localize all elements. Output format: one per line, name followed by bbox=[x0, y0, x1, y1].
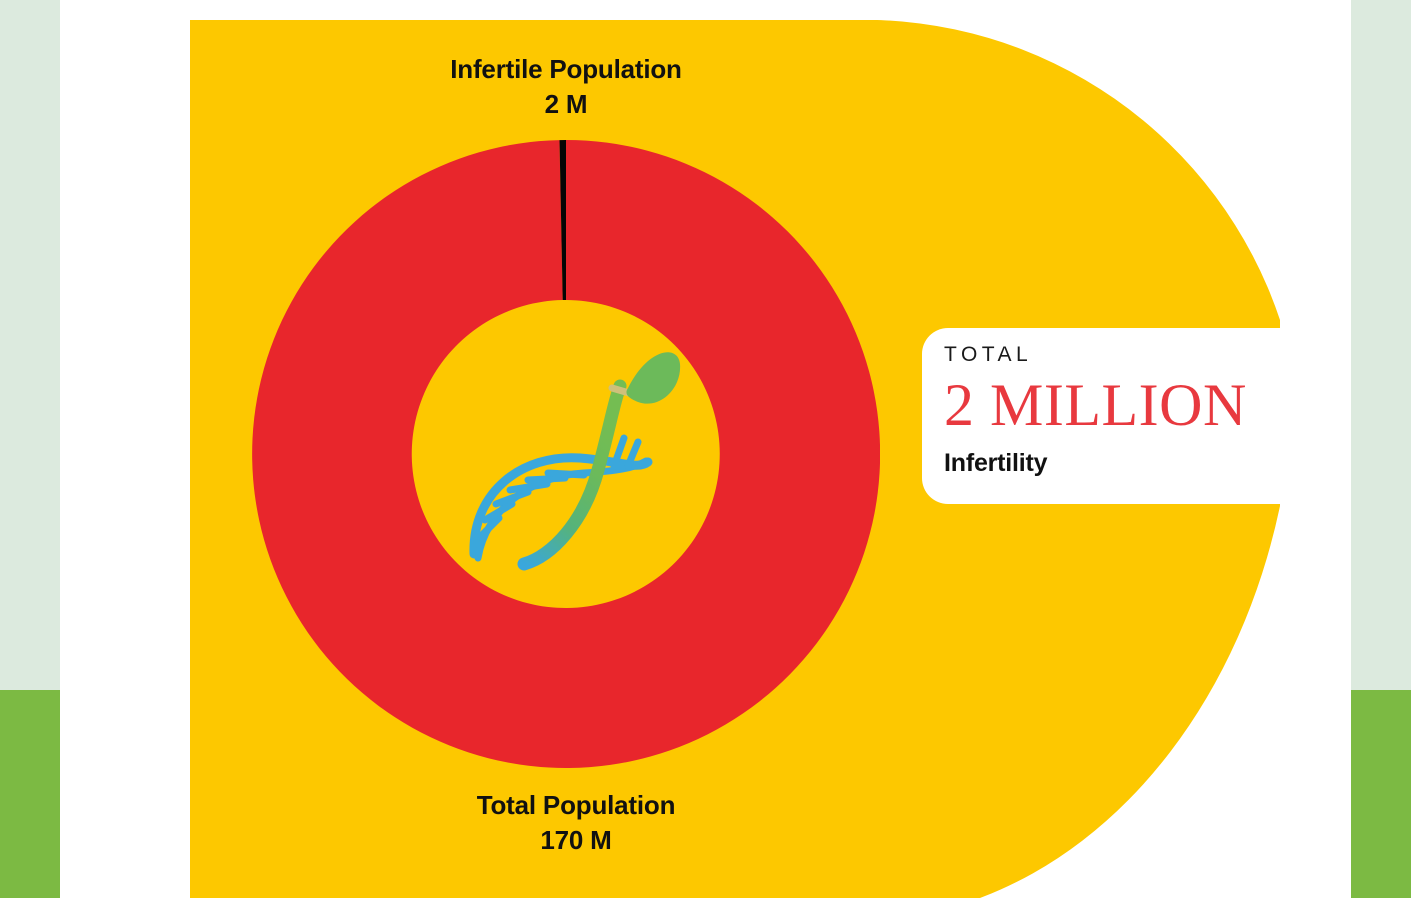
callout-caption-label: Infertility bbox=[944, 451, 1280, 476]
label-total-population-name: Total Population bbox=[306, 788, 846, 823]
label-total-population: Total Population 170 M bbox=[306, 788, 846, 857]
callout-eyebrow-label: TOTAL bbox=[944, 344, 1280, 365]
decorative-bar-left bbox=[0, 0, 60, 898]
infographic-canvas: Infertile Population 2 M Total Populatio… bbox=[0, 0, 1411, 898]
label-total-population-value: 170 M bbox=[306, 823, 846, 858]
decorative-bar-right-bottom bbox=[1351, 690, 1411, 898]
total-callout-card: TOTAL 2 MILLION Infertility bbox=[922, 328, 1280, 504]
label-infertile-population: Infertile Population 2 M bbox=[296, 52, 836, 121]
label-infertile-population-value: 2 M bbox=[296, 87, 836, 122]
label-infertile-population-name: Infertile Population bbox=[296, 52, 836, 87]
callout-figure-value: 2 MILLION bbox=[944, 375, 1280, 435]
dna-plant-sprout-icon bbox=[452, 342, 684, 582]
decorative-bar-right bbox=[1351, 0, 1411, 898]
decorative-bar-right-top bbox=[1351, 0, 1411, 690]
decorative-bar-left-bottom bbox=[0, 690, 60, 898]
decorative-bar-left-top bbox=[0, 0, 60, 690]
